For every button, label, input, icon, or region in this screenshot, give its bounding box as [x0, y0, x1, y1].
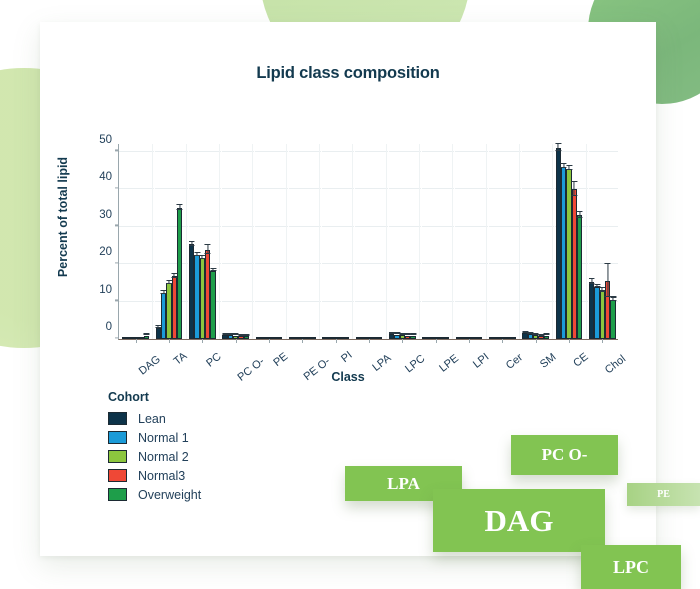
y-tick-label: 40	[99, 171, 119, 183]
group-separator	[421, 143, 422, 339]
bar	[510, 337, 515, 339]
y-tick-mark	[115, 187, 119, 188]
bar-group-lpi	[456, 143, 483, 339]
x-tick-mark	[236, 339, 237, 343]
gridline-vertical	[452, 144, 453, 339]
group-separator	[488, 143, 489, 339]
y-tick-mark	[115, 337, 119, 338]
bar	[277, 337, 282, 339]
x-tick-mark	[602, 339, 603, 343]
error-bar	[407, 333, 408, 335]
bar-group-chol	[589, 143, 616, 339]
tag-pe[interactable]: PE	[627, 483, 700, 506]
legend-item-normal3[interactable]: Normal3	[108, 466, 201, 485]
gridline-vertical	[386, 144, 387, 339]
x-tick-label: SM	[538, 351, 558, 371]
group-separator	[154, 143, 155, 339]
gridline-vertical	[286, 144, 287, 339]
error-bar	[530, 332, 531, 334]
y-tick-label: 30	[99, 209, 119, 221]
error-bar	[235, 333, 236, 335]
error-bar	[212, 268, 213, 271]
error-bar	[596, 284, 597, 287]
bar-group-lpe	[422, 143, 449, 339]
bar-group-dag	[122, 143, 149, 339]
error-bar	[246, 334, 247, 336]
error-bar	[402, 333, 403, 335]
x-tick-mark	[136, 339, 137, 343]
group-separator	[521, 143, 522, 339]
error-bar	[574, 181, 575, 196]
gridline-vertical	[186, 144, 187, 339]
tag-pc-o[interactable]: PC O-	[511, 435, 618, 475]
group-separator	[554, 143, 555, 339]
x-tick-mark	[169, 339, 170, 343]
bar-group-pco	[222, 143, 249, 339]
plot-area: Percent of total lipid Class 01020304050…	[40, 118, 656, 378]
error-bar	[546, 333, 547, 335]
bar-group-ce	[556, 143, 583, 339]
legend-item-label: Overweight	[138, 488, 201, 502]
legend-item-normal-1[interactable]: Normal 1	[108, 428, 201, 447]
group-separator	[188, 143, 189, 339]
bar-group-ta	[156, 143, 183, 339]
chart-title: Lipid class composition	[40, 64, 656, 83]
x-tick-label: PE	[271, 351, 290, 369]
bar	[610, 300, 615, 339]
error-bar	[174, 273, 175, 278]
group-separator	[454, 143, 455, 339]
y-tick-label: 20	[99, 246, 119, 258]
legend-rows: LeanNormal 1Normal 2Normal3Overweight	[108, 409, 201, 504]
error-bar	[612, 296, 613, 300]
bar-group-pi	[322, 143, 349, 339]
y-tick-mark	[115, 225, 119, 226]
group-separator	[321, 143, 322, 339]
error-bar	[224, 333, 225, 335]
legend: Cohort LeanNormal 1Normal 2Normal3Overwe…	[108, 390, 201, 504]
bar	[210, 271, 215, 339]
gridline-vertical	[152, 144, 153, 339]
y-tick-mark	[115, 150, 119, 151]
group-separator	[354, 143, 355, 339]
bar-group-pe	[256, 143, 283, 339]
legend-item-label: Normal 1	[138, 431, 189, 445]
error-bar	[568, 165, 569, 170]
figure-root: Lipid class composition Percent of total…	[0, 0, 700, 589]
legend-item-normal-2[interactable]: Normal 2	[108, 447, 201, 466]
error-bar	[230, 333, 231, 335]
group-separator	[588, 143, 589, 339]
bar	[410, 336, 415, 339]
error-bar	[602, 287, 603, 291]
x-tick-label: CE	[571, 351, 590, 370]
gridline-vertical	[586, 144, 587, 339]
gridline-vertical	[319, 144, 320, 339]
error-bar	[607, 263, 608, 297]
bar	[310, 337, 315, 339]
bar	[444, 337, 449, 339]
group-separator	[221, 143, 222, 339]
legend-swatch-icon	[108, 412, 127, 425]
y-tick-label: 10	[99, 284, 119, 296]
x-tick-mark	[436, 339, 437, 343]
y-axis-label: Percent of total lipid	[56, 132, 70, 302]
legend-title: Cohort	[108, 390, 201, 404]
x-tick-label: Cer	[504, 351, 525, 371]
bar	[577, 215, 582, 339]
error-bar	[191, 241, 192, 246]
x-axis-label: Class	[40, 370, 656, 384]
error-bar	[579, 211, 580, 218]
error-bar	[146, 333, 147, 335]
tag-lpc[interactable]: LPC	[581, 545, 681, 589]
bar-group-pc	[189, 143, 216, 339]
group-separator	[288, 143, 289, 339]
x-tick-label: PI	[339, 349, 355, 365]
bar	[377, 337, 382, 339]
error-bar	[196, 252, 197, 256]
bar	[244, 336, 249, 339]
error-bar	[158, 325, 159, 328]
x-tick-mark	[202, 339, 203, 343]
error-bar	[535, 333, 536, 335]
y-tick-label: 50	[99, 134, 119, 146]
legend-item-overweight[interactable]: Overweight	[108, 485, 201, 504]
x-tick-mark	[336, 339, 337, 343]
error-bar	[391, 332, 392, 334]
error-bar	[179, 204, 180, 210]
legend-item-lean[interactable]: Lean	[108, 409, 201, 428]
error-bar	[412, 333, 413, 335]
error-bar	[202, 255, 203, 259]
legend-swatch-icon	[108, 431, 127, 444]
error-bar	[558, 143, 559, 151]
error-bar	[240, 334, 241, 336]
gridline-vertical	[252, 144, 253, 339]
x-tick-mark	[369, 339, 370, 343]
x-tick-mark	[402, 339, 403, 343]
bar-group-sm	[522, 143, 549, 339]
gridline-vertical	[552, 144, 553, 339]
plot-canvas: 01020304050DAGTAPCPC O-PEPE O-PILPALPCLP…	[118, 144, 618, 340]
bar	[344, 337, 349, 339]
bar	[144, 336, 149, 339]
gridline-vertical	[219, 144, 220, 339]
gridline-vertical	[352, 144, 353, 339]
bar	[544, 336, 549, 339]
x-tick-mark	[469, 339, 470, 343]
error-bar	[168, 280, 169, 284]
legend-item-label: Normal3	[138, 469, 185, 483]
x-tick-mark	[569, 339, 570, 343]
legend-swatch-icon	[108, 450, 127, 463]
y-tick-mark	[115, 262, 119, 263]
x-tick-mark	[269, 339, 270, 343]
gridline-vertical	[419, 144, 420, 339]
legend-swatch-icon	[108, 469, 127, 482]
bar-group-cer	[489, 143, 516, 339]
legend-swatch-icon	[108, 488, 127, 501]
bar-group-lpa	[356, 143, 383, 339]
x-tick-mark	[302, 339, 303, 343]
legend-item-label: Normal 2	[138, 450, 189, 464]
error-bar	[396, 332, 397, 334]
error-bar	[591, 278, 592, 284]
bar-group-peo	[289, 143, 316, 339]
bar-group-lpc	[389, 143, 416, 339]
y-tick-label: 0	[106, 321, 119, 333]
error-bar	[563, 163, 564, 168]
bar	[177, 208, 182, 339]
group-separator	[254, 143, 255, 339]
x-tick-mark	[536, 339, 537, 343]
gridline-vertical	[486, 144, 487, 339]
x-tick-label: TA	[172, 350, 190, 368]
gridline-vertical	[519, 144, 520, 339]
error-bar	[540, 334, 541, 336]
group-separator	[388, 143, 389, 339]
x-tick-label: PC	[205, 351, 224, 370]
tag-dag[interactable]: DAG	[433, 489, 605, 552]
error-bar	[207, 244, 208, 254]
legend-item-label: Lean	[138, 412, 166, 426]
x-tick-label: LPI	[471, 351, 491, 371]
error-bar	[163, 290, 164, 294]
error-bar	[524, 331, 525, 333]
y-tick-mark	[115, 300, 119, 301]
bar	[477, 337, 482, 339]
x-tick-mark	[502, 339, 503, 343]
